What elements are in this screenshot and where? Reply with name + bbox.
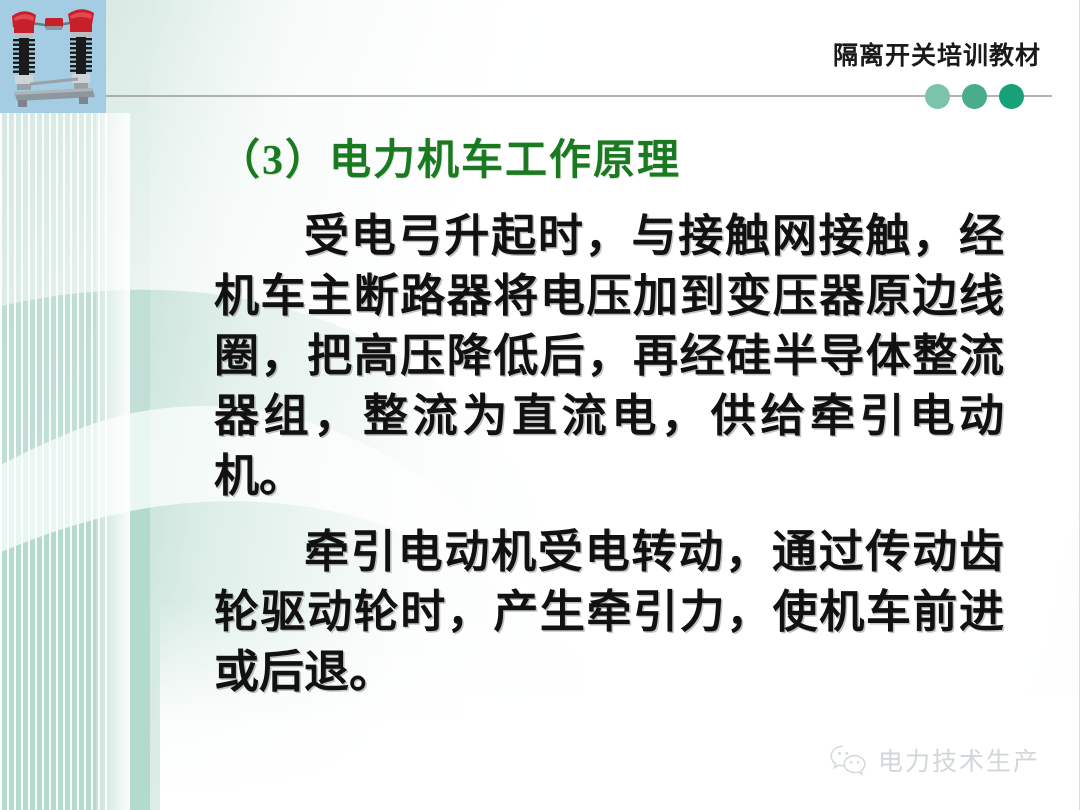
header-dot-light — [925, 84, 950, 109]
header-title: 隔离开关培训教材 — [833, 36, 1041, 72]
left-stripe-fade — [96, 113, 130, 810]
header-dot-medium — [962, 84, 987, 109]
body-paragraph-1: 受电弓升起时，与接触网接触，经机车主断路器将电压加到变压器原边线圈，把高压降低后… — [214, 206, 1004, 506]
slide-heading: （3）电力机车工作原理 — [218, 126, 681, 187]
watermark: 电力技术生产 — [828, 742, 1040, 778]
body-paragraph-2: 牵引电动机受电转动，通过传动齿轮驱动轮时，产生牵引力，使机车前进或后退。 — [214, 522, 1004, 702]
slide-body: 受电弓升起时，与接触网接触，经机车主断路器将电压加到变压器原边线圈，把高压降低后… — [214, 206, 1004, 702]
slide-canvas: 隔离开关培训教材 （3）电力机车工作原理 受电弓升起时，与接触网接触，经机车主断… — [0, 0, 1080, 810]
header-divider-rule — [106, 95, 1052, 97]
watermark-label: 电力技术生产 — [878, 742, 1040, 778]
disconnector-switch-photo — [0, 0, 106, 113]
header-dot-group — [925, 84, 1045, 110]
header-dot-dark — [999, 84, 1024, 109]
switch-illustration — [0, 0, 106, 113]
wechat-icon — [828, 743, 868, 777]
